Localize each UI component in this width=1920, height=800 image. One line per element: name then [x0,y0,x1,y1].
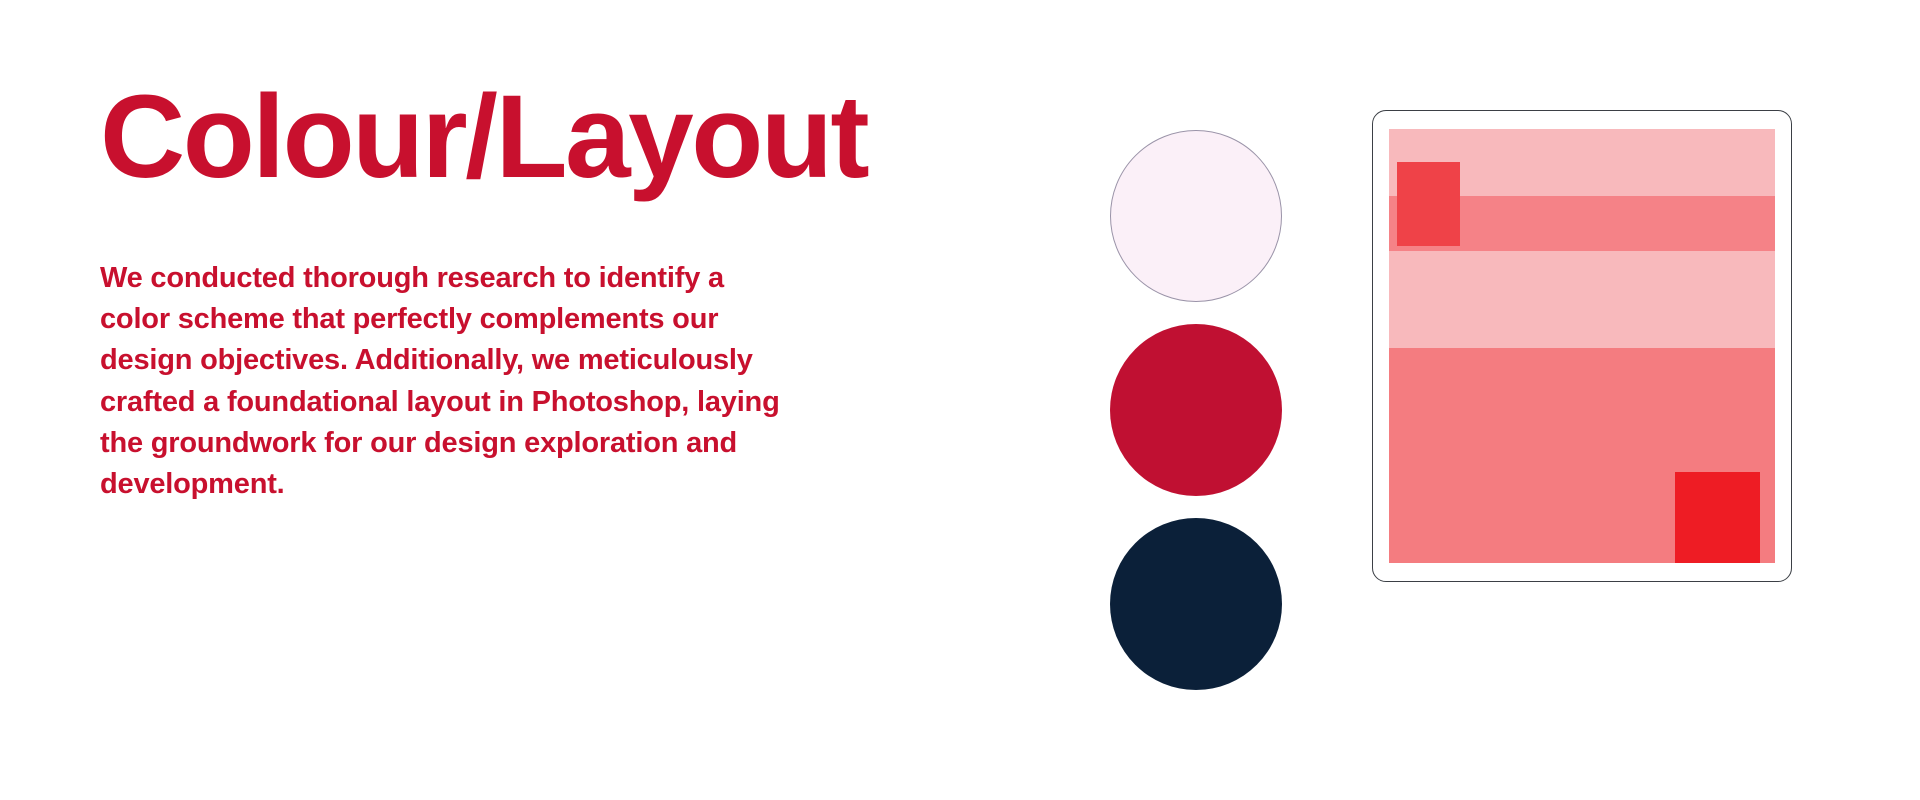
colour-swatch-crimson-red [1110,324,1282,496]
text-column: Colour/Layout We conducted thorough rese… [100,78,940,505]
body-paragraph: We conducted thorough research to identi… [100,258,800,505]
layout-mockup-frame [1372,110,1792,582]
colour-swatch-navy-dark [1110,518,1282,690]
page-title: Colour/Layout [100,78,940,196]
slide-canvas: Colour/Layout We conducted thorough rese… [0,0,1920,800]
colour-swatch-off-white-pink [1110,130,1282,302]
mockup-layer-accent-square-top [1397,162,1461,247]
mockup-layer-accent-square-bottom [1675,472,1760,563]
mockup-canvas [1389,129,1775,563]
colour-swatch-list [1110,130,1282,690]
